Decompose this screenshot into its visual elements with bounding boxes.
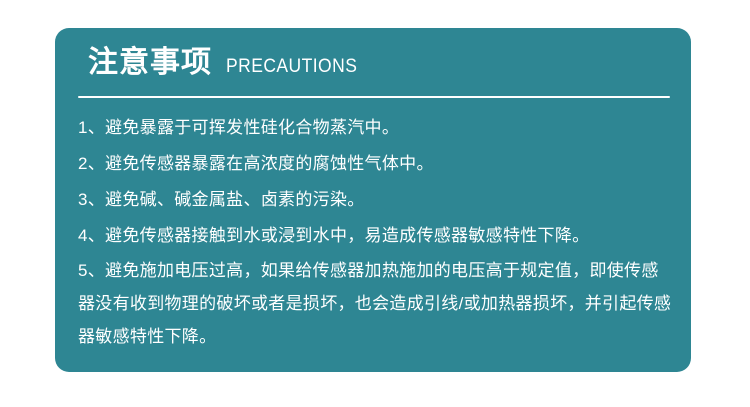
list-item: 1、避免暴露于可挥发性硅化合物蒸汽中。 <box>78 110 674 146</box>
page-title-english: PRECAUTIONS <box>226 57 357 76</box>
card-header: 注意事项 PRECAUTIONS <box>88 48 369 78</box>
header-divider <box>78 96 670 98</box>
list-item: 5、避免施加电压过高，如果给传感器加热施加的电压高于规定值，即使传感器没有收到物… <box>78 254 674 353</box>
page-title-chinese: 注意事项 <box>88 48 212 78</box>
list-item: 3、避免碱、碱金属盐、卤素的污染。 <box>78 182 674 218</box>
precautions-card: 注意事项 PRECAUTIONS 1、避免暴露于可挥发性硅化合物蒸汽中。 2、避… <box>55 28 691 372</box>
precautions-list: 1、避免暴露于可挥发性硅化合物蒸汽中。 2、避免传感器暴露在高浓度的腐蚀性气体中… <box>78 110 674 353</box>
list-item: 4、避免传感器接触到水或浸到水中，易造成传感器敏感特性下降。 <box>78 218 674 254</box>
list-item: 2、避免传感器暴露在高浓度的腐蚀性气体中。 <box>78 146 674 182</box>
